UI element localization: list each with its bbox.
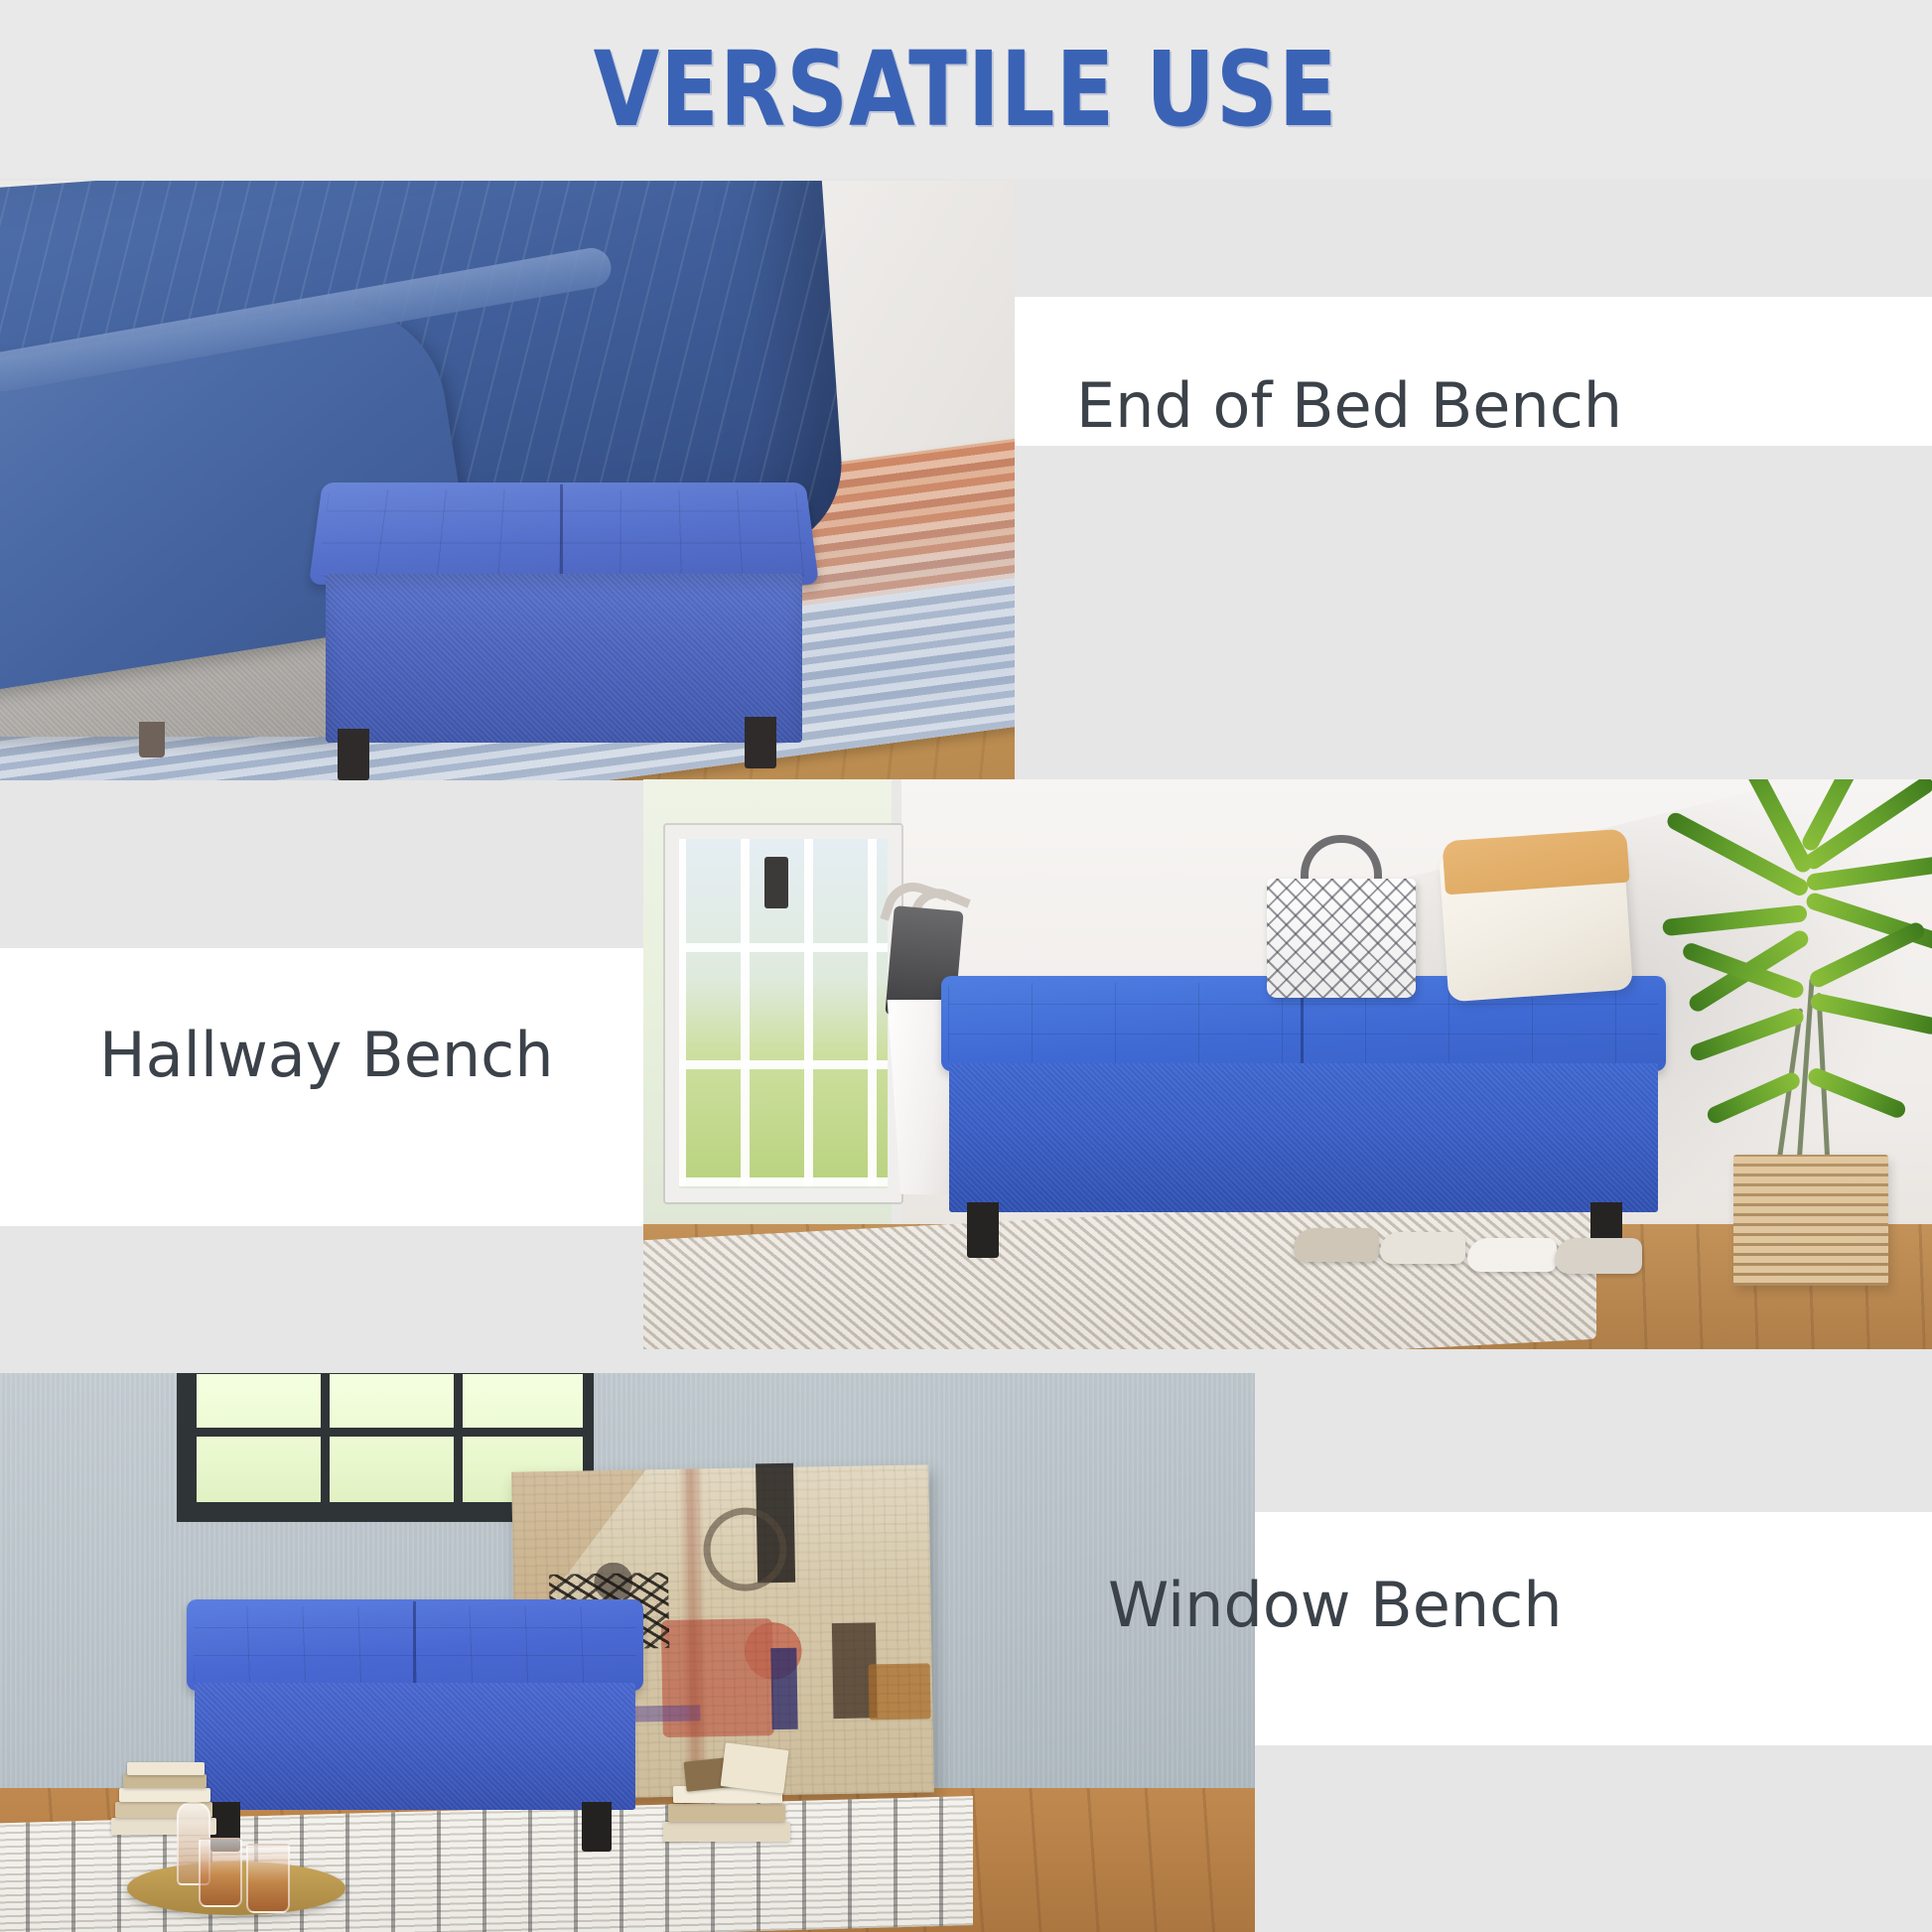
- art-blob-red: [661, 1618, 774, 1737]
- art-blob-ring: [703, 1507, 787, 1591]
- bench-body: [195, 1683, 635, 1810]
- book: [721, 1742, 789, 1793]
- label-end-of-bed-bench: End of Bed Bench: [1076, 369, 1870, 442]
- page-title: VERSATILE USE: [594, 29, 1338, 150]
- book: [123, 1774, 207, 1788]
- bench-tufted-lid: [309, 483, 819, 585]
- bench-leg-right: [745, 717, 776, 768]
- storage-bench-bedroom: [316, 479, 812, 757]
- shoe-1: [1294, 1228, 1379, 1262]
- glass-1: [199, 1838, 242, 1907]
- window-latch-handle: [764, 857, 788, 908]
- shoe-3: [1467, 1238, 1557, 1272]
- bench-body: [326, 574, 802, 743]
- book: [663, 1822, 790, 1842]
- shoe-4: [1555, 1238, 1642, 1274]
- bench-leg-left: [338, 729, 369, 780]
- book: [127, 1762, 205, 1775]
- storage-bench-hallway: [941, 976, 1666, 1264]
- storage-bench-window: [187, 1599, 643, 1838]
- bench-leg-left: [967, 1202, 999, 1258]
- book: [668, 1804, 785, 1822]
- art-blob-navy: [770, 1648, 797, 1729]
- glass-2: [246, 1844, 290, 1913]
- art-blob-dark-bar: [756, 1463, 795, 1584]
- title-bar: VERSATILE USE: [0, 0, 1932, 179]
- photo-window-bench: [0, 1373, 1255, 1932]
- slatted-planter: [1733, 1155, 1888, 1286]
- bed-foot: [139, 722, 165, 758]
- book: [119, 1788, 210, 1802]
- label-window-bench: Window Bench: [1108, 1569, 1902, 1641]
- art-blob-brown: [832, 1622, 878, 1719]
- art-blob-ochre: [869, 1663, 931, 1720]
- bench-lid-split: [560, 484, 563, 583]
- shoe-2: [1380, 1232, 1465, 1264]
- bench-leg-right: [582, 1802, 612, 1852]
- photo-hallway-bench: [643, 779, 1932, 1349]
- handbag: [1267, 879, 1416, 998]
- bench-body: [949, 1063, 1658, 1212]
- photo-end-of-bed-bench: [0, 181, 1015, 780]
- label-hallway-bench: Hallway Bench: [99, 1019, 616, 1091]
- stacked-books-right: [663, 1752, 792, 1844]
- bench-lid-split: [413, 1601, 416, 1689]
